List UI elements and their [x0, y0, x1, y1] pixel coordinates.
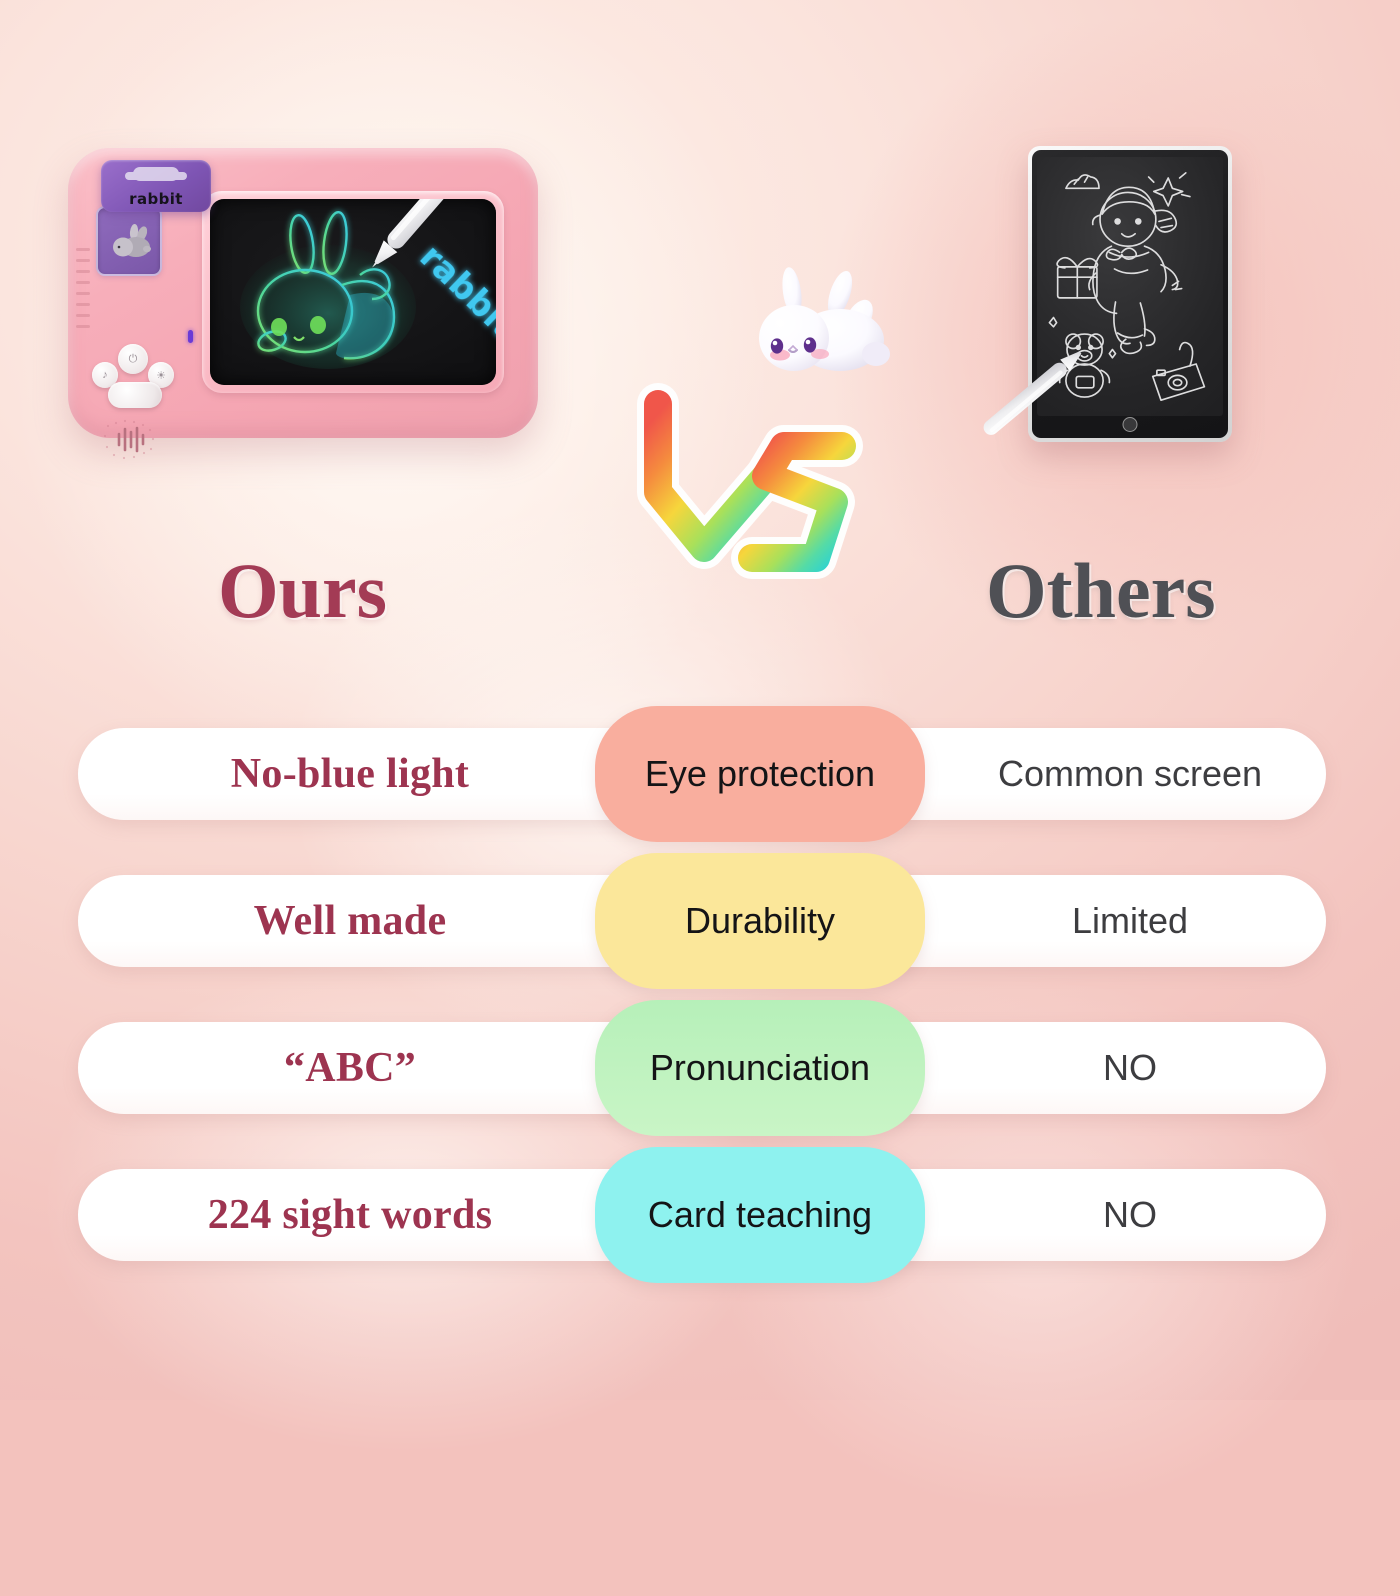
comparison-table: No-blue light Eye protection Common scre… [0, 700, 1400, 1288]
others-product-image [1028, 146, 1232, 442]
cell-ours-value: 224 sight words [110, 1169, 590, 1261]
table-row: 224 sight words Card teaching NO [0, 1141, 1400, 1288]
lcd-screen: rabbit [210, 199, 496, 385]
feature-pill: Card teaching [595, 1147, 925, 1283]
feature-pill: Durability [595, 853, 925, 989]
side-ridges [76, 248, 90, 332]
cell-ours-value: “ABC” [110, 1022, 590, 1114]
control-buttons: ⏻ ♪ ☀ [92, 344, 188, 406]
bunny-mascot-icon [748, 258, 900, 378]
power-button[interactable]: ⏻ [118, 344, 148, 374]
table-row: No-blue light Eye protection Common scre… [0, 700, 1400, 847]
cloud-logo-icon [133, 167, 179, 181]
ours-product-image: ⏻ ♪ ☀ [68, 148, 538, 438]
table-row: “ABC” Pronunciation NO [0, 994, 1400, 1141]
cell-others-value: NO [930, 1169, 1330, 1261]
cell-ours-value: No-blue light [110, 728, 590, 820]
screen-bezel: rabbit [202, 191, 504, 393]
table-row: Well made Durability Limited [0, 847, 1400, 994]
cell-others-value: Limited [930, 875, 1330, 967]
stylus-pen-ours [328, 199, 478, 307]
card-slot [96, 206, 162, 276]
feature-pill: Pronunciation [595, 1000, 925, 1136]
rabbit-name-card: rabbit [101, 160, 211, 212]
cell-others-value: Common screen [930, 728, 1330, 820]
card-brand-label: rabbit [101, 190, 211, 208]
power-led-icon [188, 330, 193, 343]
erase-button[interactable] [108, 382, 162, 408]
cell-others-value: NO [930, 1022, 1330, 1114]
cell-ours-value: Well made [110, 875, 590, 967]
gray-bunny-card-icon [110, 224, 152, 260]
feature-pill: Eye protection [595, 706, 925, 842]
ours-heading: Ours [218, 552, 387, 630]
speaker-grille-icon [100, 416, 158, 462]
stylus-pen-others [976, 296, 1126, 466]
vs-badge-icon [616, 372, 904, 600]
others-heading: Others [986, 552, 1216, 630]
